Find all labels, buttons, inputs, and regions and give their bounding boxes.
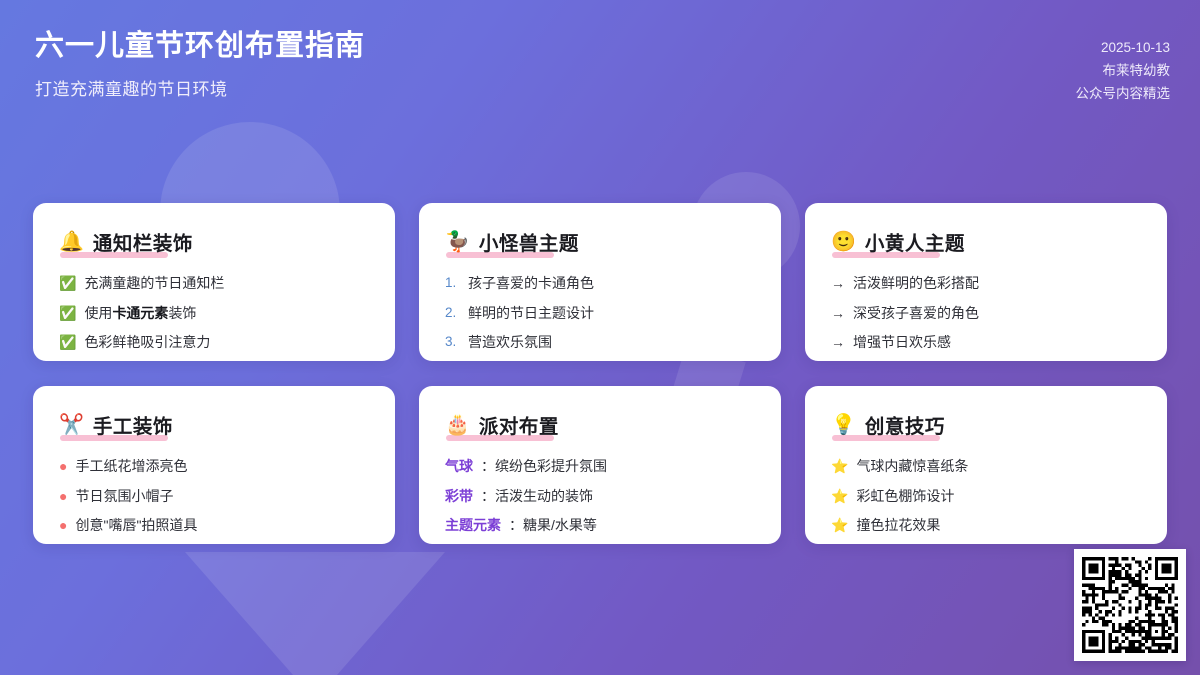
- header-date: 2025-10-13: [1076, 36, 1171, 59]
- list-item-text: 气球内藏惊喜纸条: [856, 456, 968, 478]
- card-title: 小黄人主题: [865, 227, 965, 256]
- list-item-text: 深受孩子喜爱的角色: [853, 303, 979, 325]
- card-header: 🎂派对布置: [445, 410, 755, 439]
- card-header: 🦆小怪兽主题: [445, 227, 755, 256]
- header-source: 公众号内容精选: [1076, 82, 1171, 105]
- card: ✂️手工装饰●手工纸花增添亮色●节日氛围小帽子●创意"嘴唇"拍照道具: [33, 386, 395, 544]
- header-org: 布莱特幼教: [1076, 59, 1171, 82]
- list-item: ●手工纸花增添亮色: [59, 456, 369, 478]
- list-item: →活泼鲜明的色彩搭配: [831, 273, 1141, 295]
- list-item: ✅充满童趣的节日通知栏: [59, 273, 369, 295]
- card-title: 通知栏装饰: [93, 227, 193, 256]
- qr-code[interactable]: [1074, 549, 1186, 661]
- list-item: ⭐撞色拉花效果: [831, 515, 1141, 537]
- list-item-marker: ⭐: [831, 515, 848, 537]
- list-item: 气球：缤纷色彩提升氛围: [445, 456, 755, 478]
- list-item-marker: →: [831, 273, 845, 295]
- card: 🙂小黄人主题→活泼鲜明的色彩搭配→深受孩子喜爱的角色→增强节日欢乐感: [805, 203, 1167, 361]
- card-body: 1.孩子喜爱的卡通角色2.鲜明的节日主题设计3.营造欢乐氛围: [445, 273, 755, 354]
- list-item-text: 增强节日欢乐感: [853, 332, 951, 354]
- list-item-text: ：缤纷色彩提升氛围: [481, 456, 607, 478]
- list-item-text: 充满童趣的节日通知栏: [84, 273, 224, 295]
- duck-icon: 🦆: [445, 232, 470, 252]
- list-item-marker: ⭐: [831, 486, 848, 508]
- card-header: 💡创意技巧: [831, 410, 1141, 439]
- card-grid: 🔔通知栏装饰✅充满童趣的节日通知栏✅使用卡通元素装饰✅色彩鲜艳吸引注意力🦆小怪兽…: [33, 203, 1167, 544]
- list-item: 2.鲜明的节日主题设计: [445, 303, 755, 325]
- card-header: ✂️手工装饰: [59, 410, 369, 439]
- birthday-cake-icon: 🎂: [445, 415, 470, 435]
- list-item-text: 彩虹色棚饰设计: [856, 486, 954, 508]
- card-body: 气球：缤纷色彩提升氛围彩带：活泼生动的装饰主题元素：糖果/水果等: [445, 456, 755, 537]
- list-item-marker: 3.: [445, 332, 460, 353]
- list-item-marker: ✅: [59, 303, 76, 325]
- card: 🎂派对布置气球：缤纷色彩提升氛围彩带：活泼生动的装饰主题元素：糖果/水果等: [419, 386, 781, 544]
- list-item-text: 营造欢乐氛围: [468, 332, 552, 354]
- list-item-marker: ✅: [59, 332, 76, 354]
- list-item-term: 气球: [445, 456, 473, 478]
- list-item: ⭐彩虹色棚饰设计: [831, 486, 1141, 508]
- qr-code-image: [1082, 557, 1178, 653]
- list-item-text: 活泼鲜明的色彩搭配: [853, 273, 979, 295]
- list-item-marker: ●: [59, 486, 67, 506]
- list-item: ●创意"嘴唇"拍照道具: [59, 515, 369, 537]
- list-item-marker: ⭐: [831, 456, 848, 478]
- card-body: ●手工纸花增添亮色●节日氛围小帽子●创意"嘴唇"拍照道具: [59, 456, 369, 537]
- list-item-text: ：糖果/水果等: [509, 515, 597, 537]
- list-item-marker: ●: [59, 515, 67, 535]
- card-body: →活泼鲜明的色彩搭配→深受孩子喜爱的角色→增强节日欢乐感: [831, 273, 1141, 354]
- list-item-text: 使用卡通元素装饰: [84, 303, 196, 325]
- card-title: 派对布置: [479, 410, 559, 439]
- list-item-text: 撞色拉花效果: [856, 515, 940, 537]
- page-header: 六一儿童节环创布置指南 打造充满童趣的节日环境 2025-10-13 布莱特幼教…: [0, 0, 1200, 130]
- list-item: →深受孩子喜爱的角色: [831, 303, 1141, 325]
- list-item-marker: →: [831, 303, 845, 325]
- list-item-marker: ●: [59, 456, 67, 476]
- list-item-text: 鲜明的节日主题设计: [468, 303, 594, 325]
- list-item-term: 彩带: [445, 486, 473, 508]
- card-body: ⭐气球内藏惊喜纸条⭐彩虹色棚饰设计⭐撞色拉花效果: [831, 456, 1141, 537]
- list-item: 3.营造欢乐氛围: [445, 332, 755, 354]
- card-header: 🔔通知栏装饰: [59, 227, 369, 256]
- list-item: ✅色彩鲜艳吸引注意力: [59, 332, 369, 354]
- list-item-term: 主题元素: [445, 515, 501, 537]
- list-item: 1.孩子喜爱的卡通角色: [445, 273, 755, 295]
- card-body: ✅充满童趣的节日通知栏✅使用卡通元素装饰✅色彩鲜艳吸引注意力: [59, 273, 369, 354]
- list-item-text: 手工纸花增添亮色: [75, 456, 187, 478]
- list-item-text: ：活泼生动的装饰: [481, 486, 593, 508]
- decorative-triangle: [185, 552, 445, 675]
- list-item-marker: →: [831, 332, 845, 354]
- list-item: ⭐气球内藏惊喜纸条: [831, 456, 1141, 478]
- list-item-text: 孩子喜爱的卡通角色: [468, 273, 594, 295]
- page-subtitle: 打造充满童趣的节日环境: [35, 75, 1170, 100]
- card: 🔔通知栏装饰✅充满童趣的节日通知栏✅使用卡通元素装饰✅色彩鲜艳吸引注意力: [33, 203, 395, 361]
- lightbulb-icon: 💡: [831, 415, 856, 435]
- list-item: →增强节日欢乐感: [831, 332, 1141, 354]
- list-item-marker: 2.: [445, 303, 460, 324]
- card-title: 手工装饰: [93, 410, 173, 439]
- list-item-text: 色彩鲜艳吸引注意力: [84, 332, 210, 354]
- list-item-text: 节日氛围小帽子: [75, 486, 173, 508]
- list-item-marker: 1.: [445, 273, 460, 294]
- list-item: 主题元素：糖果/水果等: [445, 515, 755, 537]
- card-title: 小怪兽主题: [479, 227, 579, 256]
- smiley-face-icon: 🙂: [831, 232, 856, 252]
- list-item: ✅使用卡通元素装饰: [59, 303, 369, 325]
- card: 🦆小怪兽主题1.孩子喜爱的卡通角色2.鲜明的节日主题设计3.营造欢乐氛围: [419, 203, 781, 361]
- list-item: ●节日氛围小帽子: [59, 486, 369, 508]
- card-header: 🙂小黄人主题: [831, 227, 1141, 256]
- page-title: 六一儿童节环创布置指南: [35, 28, 1170, 66]
- list-item: 彩带：活泼生动的装饰: [445, 486, 755, 508]
- scissors-icon: ✂️: [59, 415, 84, 435]
- bell-icon: 🔔: [59, 232, 84, 252]
- card: 💡创意技巧⭐气球内藏惊喜纸条⭐彩虹色棚饰设计⭐撞色拉花效果: [805, 386, 1167, 544]
- list-item-text: 创意"嘴唇"拍照道具: [75, 515, 197, 537]
- card-title: 创意技巧: [865, 410, 945, 439]
- list-item-marker: ✅: [59, 273, 76, 295]
- header-meta: 2025-10-13 布莱特幼教 公众号内容精选: [1076, 36, 1171, 106]
